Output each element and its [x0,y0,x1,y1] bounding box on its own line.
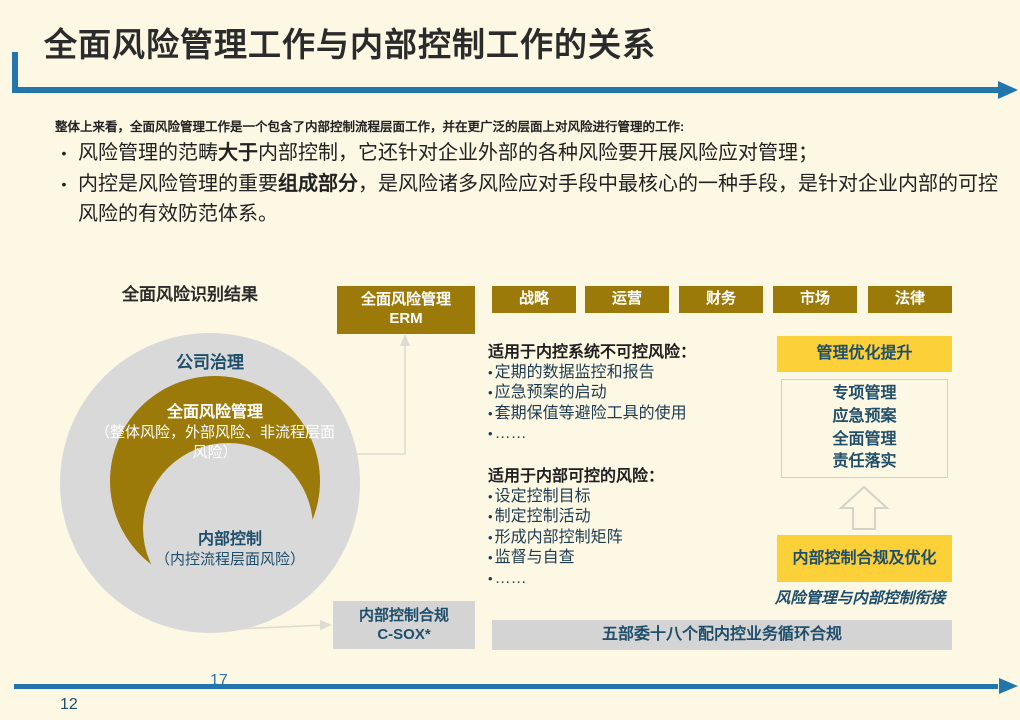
up-arrow-icon [838,484,890,532]
group1-heading: 适用于内控系统不可控风险： [488,338,788,362]
group1-item: …… [488,424,788,444]
group2-item: 形成内部控制矩阵 [488,528,788,548]
box-csox-line2: C-SOX* [359,625,449,645]
circle-internal-control [143,443,313,613]
group2-item: 制定控制活动 [488,507,788,527]
spacer [488,445,788,462]
bullet-part: 内控是风险管理的重要 [78,173,278,195]
group2-item: 监督与自查 [488,548,788,568]
box-finance[interactable]: 财务 [679,286,763,313]
middle-text-column: 适用于内控系统不可控风险： 定期的数据监控和报告 应急预案的启动 套期保值等避险… [488,338,788,589]
group2-heading: 适用于内部可控的风险： [488,462,788,486]
bullet-part-emphasis: 组成部分 [278,173,358,195]
connector-arrow-csox [320,620,332,630]
intro-bullet-list: • 风险管理的范畴大于内部控制，它还针对企业外部的各种风险要开展风险应对管理； … [50,138,1000,230]
group1-item: 定期的数据监控和报告 [488,363,788,383]
circle-erm-title: 全面风险管理 [95,403,335,423]
box-erm-line2: ERM [361,310,451,329]
page-number: 12 [60,696,78,714]
box-csox[interactable]: 内部控制合规 C-SOX* [333,601,475,649]
circle-erm-subtitle: （整体风险，外部风险、非流程层面风险） [95,423,335,461]
measure-item: 责任落实 [832,451,896,474]
box-csox-line1: 内部控制合规 [359,606,449,626]
bullet-part: 风险管理的范畴 [78,142,218,164]
slide: 全面风险管理工作与内部控制工作的关系 整体上来看，全面风险管理工作是一个包含了内… [0,0,1020,720]
group2-item: 设定控制目标 [488,487,788,507]
box-management-optimization[interactable]: 管理优化提升 [777,336,952,372]
list-item: • 内控是风险管理的重要组成部分，是风险诸多风险应对手段中最核心的一种手段，是针… [50,169,1000,229]
box-measures-list: 专项管理 应急预案 全面管理 责任落实 [781,379,948,478]
measure-item: 全面管理 [832,429,896,452]
connector-arrow-erm [400,334,410,346]
group1-item: 应急预案的启动 [488,383,788,403]
circle-governance-label: 公司治理 [60,348,360,373]
circle-ic-label: 内部控制 （内控流程层面风险） [140,530,320,570]
box-erm-line1: 全面风险管理 [361,291,451,310]
intro-lead: 整体上来看，全面风险管理工作是一个包含了内部控制流程层面工作，并在更广泛的层面上… [55,118,985,136]
box-internal-control-compliance[interactable]: 内部控制合规及优化 [777,535,952,582]
footer-arrow-icon [999,678,1018,694]
diagram-section-title: 全面风险识别结果 [122,280,258,305]
box-legal[interactable]: 法律 [868,286,952,313]
box-erm[interactable]: 全面风险管理 ERM [337,286,475,334]
diagram-caption: 风险管理与内部控制衔接 [740,586,980,608]
box-five-ministries[interactable]: 五部委十八个配内控业务循环合规 [492,620,952,650]
bullet-text: 风险管理的范畴大于内部控制，它还针对企业外部的各种风险要开展风险应对管理； [78,138,1000,168]
diagram-canvas: 全面风险识别结果 公司治理 全面风险管理 （整体风险，外部风险、非流程层面风险）… [0,258,1020,658]
box-strategy[interactable]: 战略 [492,286,576,313]
circle-ic-subtitle: （内控流程层面风险） [140,550,320,569]
page-title: 全面风险管理工作与内部控制工作的关系 [44,18,656,66]
list-item: • 风险管理的范畴大于内部控制，它还针对企业外部的各种风险要开展风险应对管理； [50,138,1000,168]
bullet-text: 内控是风险管理的重要组成部分，是风险诸多风险应对手段中最核心的一种手段，是针对企… [78,169,1000,229]
box-market[interactable]: 市场 [773,286,857,313]
header-bracket [12,52,18,92]
header-arrow-icon [998,81,1018,99]
footer-rule [14,684,998,689]
measure-item: 专项管理 [832,383,896,406]
bullet-icon: • [50,169,78,199]
bullet-icon: • [50,138,78,168]
bullet-part: 内部控制，它还针对企业外部的各种风险要开展风险应对管理； [258,142,818,164]
header-rule [12,87,998,93]
circle-ic-title: 内部控制 [140,530,320,550]
bullet-part-emphasis: 大于 [218,142,258,164]
box-operations[interactable]: 运营 [585,286,669,313]
group1-item: 套期保值等避险工具的使用 [488,404,788,424]
measure-item: 应急预案 [832,406,896,429]
circle-erm-label: 全面风险管理 （整体风险，外部风险、非流程层面风险） [95,403,335,462]
